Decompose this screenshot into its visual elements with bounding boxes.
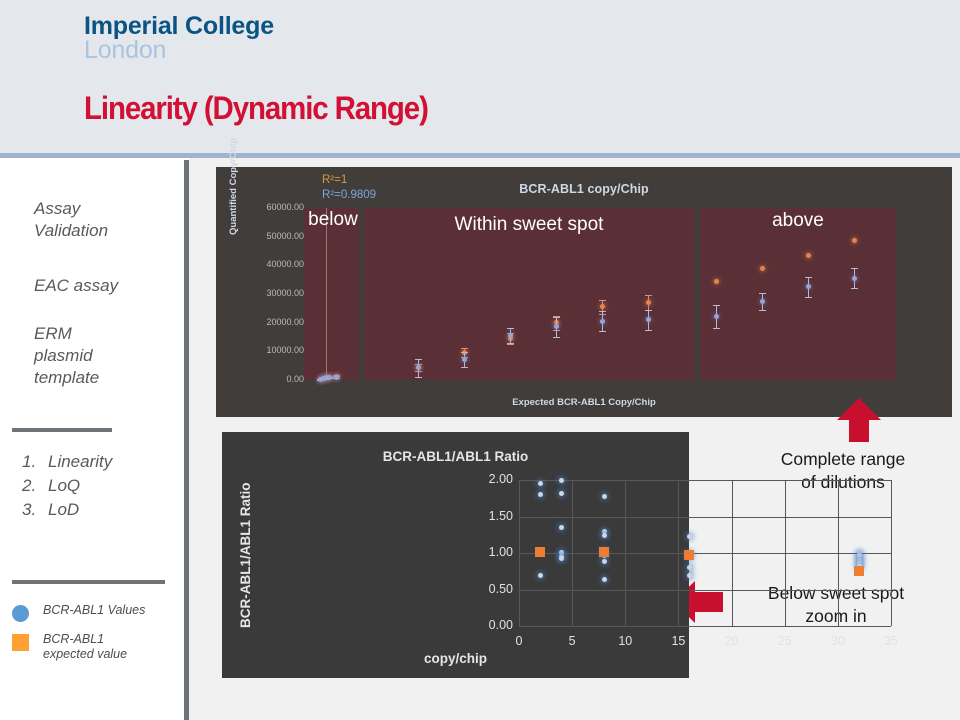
error-bar-cap [415, 377, 422, 378]
list-label-linearity: Linearity [48, 452, 112, 471]
annotation-complete-range: Complete range of dilutions [728, 448, 958, 494]
gridline-vertical [838, 480, 839, 626]
xtick-label-bottom-2: 10 [610, 634, 640, 648]
error-bar-cap [805, 277, 812, 278]
expected-value-marker [854, 566, 864, 576]
xtick-label-bottom-7: 35 [876, 634, 906, 648]
gridline-horizontal [519, 626, 891, 627]
data-point [760, 266, 765, 271]
list-number-1: 1. [22, 450, 48, 474]
data-point [646, 300, 651, 305]
ytick-label-bottom-4: 2.00 [455, 472, 513, 486]
data-point [646, 317, 651, 322]
sidebar-ordered-list: 1.Linearity 2.LoQ 3.LoD [22, 450, 112, 522]
gridline-horizontal [519, 480, 891, 481]
data-point [559, 478, 564, 483]
gridline-horizontal [519, 590, 891, 591]
error-bar-cap [553, 317, 560, 318]
data-point [559, 556, 564, 561]
xtick-label-bottom-6: 30 [823, 634, 853, 648]
error-bar-cap [851, 268, 858, 269]
up-arrow-icon [836, 396, 882, 442]
ytick-label-top-3: 30000.00 [238, 288, 304, 298]
data-point [714, 279, 719, 284]
ytick-label-bottom-2: 1.00 [455, 545, 513, 559]
ytick-label-top-4: 40000.00 [238, 259, 304, 269]
chart-ylabel-bottom: BCR-ABL1/ABL1 Ratio [238, 482, 253, 628]
data-point [538, 481, 543, 486]
sidebar-block-assay-validation: AssayValidation [34, 198, 108, 242]
list-number-3: 3. [22, 498, 48, 522]
data-point [327, 375, 332, 380]
error-bar-cap [805, 297, 812, 298]
chart-bcr-abl1-copy-per-chip[interactable]: R²=1 R²=0.9809 BCR-ABL1 copy/Chip Quanti… [216, 167, 952, 417]
data-point [334, 375, 339, 380]
error-bar-cap [415, 359, 422, 360]
chart-title-top: BCR-ABL1 copy/Chip [216, 182, 952, 196]
data-point [538, 573, 543, 578]
error-bar-cap [599, 311, 606, 312]
xtick-label-bottom-1: 5 [557, 634, 587, 648]
sidebar-item-lod[interactable]: 3.LoD [22, 498, 112, 522]
error-bar-cap [713, 328, 720, 329]
xtick-label-bottom-4: 20 [717, 634, 747, 648]
data-point [760, 299, 765, 304]
error-bar-cap [645, 295, 652, 296]
annotation-complete-range-line1: Complete range [728, 448, 958, 471]
region-box-above [700, 208, 896, 380]
xtick-label-bottom-0: 0 [504, 634, 534, 648]
ytick-label-top-0: 0.00 [238, 374, 304, 384]
data-point [687, 565, 692, 570]
xtick-label-bottom-3: 15 [663, 634, 693, 648]
ytick-label-top-5: 50000.00 [238, 231, 304, 241]
list-label-loq: LoQ [48, 476, 80, 495]
sidebar-block-eac-assay: EAC assay [34, 275, 118, 297]
expected-value-marker [535, 547, 545, 557]
gridline-vertical [572, 480, 573, 626]
error-bar-cap [461, 367, 468, 368]
region-label-below: below [302, 209, 364, 231]
error-bar-cap [759, 293, 766, 294]
gridline-horizontal [519, 553, 891, 554]
data-point [538, 492, 543, 497]
imperial-college-logo: Imperial College London [84, 14, 274, 63]
error-bar-cap [507, 328, 514, 329]
region-label-sweet-spot: Within sweet spot [364, 214, 694, 236]
logo-line-london: London [84, 38, 274, 64]
legend-circle-icon [12, 605, 29, 622]
data-point [687, 573, 692, 578]
data-point [602, 577, 607, 582]
data-point [600, 304, 605, 309]
ytick-label-top-6: 60000.00 [238, 202, 304, 212]
chart-bcr-abl1-abl1-ratio[interactable]: BCR-ABL1/ABL1 Ratio BCR-ABL1/ABL1 Ratio … [222, 432, 689, 678]
data-point [806, 284, 811, 289]
chart-yaxis-top: 0.0010000.0020000.0030000.0040000.005000… [238, 167, 304, 417]
sidebar-block-erm-plasmid-template: ERMplasmidtemplate [34, 323, 99, 388]
gridline-vertical [519, 480, 520, 626]
ytick-label-bottom-1: 0.50 [455, 582, 513, 596]
error-bar-cap [851, 288, 858, 289]
ytick-label-top-1: 10000.00 [238, 345, 304, 355]
error-bar-cap [713, 305, 720, 306]
trendline [326, 208, 327, 380]
chart-title-bottom: BCR-ABL1/ABL1 Ratio [222, 449, 689, 464]
legend-label-expected: BCR-ABL1expected value [43, 632, 183, 663]
error-bar-cap [645, 310, 652, 311]
ytick-label-bottom-3: 1.50 [455, 509, 513, 523]
legend-square-icon [12, 634, 29, 651]
sidebar-item-linearity[interactable]: 1.Linearity [22, 450, 112, 474]
error-bar-cap [461, 352, 468, 353]
annotation-complete-range-line2: of dilutions [728, 471, 958, 494]
data-point [602, 494, 607, 499]
error-bar-cap [645, 330, 652, 331]
data-point [602, 533, 607, 538]
ytick-label-bottom-0: 0.00 [455, 618, 513, 632]
data-point [602, 559, 607, 564]
error-bar-cap [507, 344, 514, 345]
page-title: Linearity (Dynamic Range) [84, 90, 428, 127]
error-bar-cap [507, 343, 514, 344]
sidebar-item-loq[interactable]: 2.LoQ [22, 474, 112, 498]
gridline-vertical [785, 480, 786, 626]
xtick-label-bottom-5: 25 [770, 634, 800, 648]
data-point [852, 276, 857, 281]
gridline-vertical [678, 480, 679, 626]
sidebar: AssayValidation EAC assay ERMplasmidtemp… [0, 158, 184, 720]
data-point [462, 357, 467, 362]
error-bar-cap [759, 310, 766, 311]
expected-value-marker [599, 547, 609, 557]
ytick-label-top-2: 20000.00 [238, 317, 304, 327]
region-label-above: above [700, 210, 896, 232]
error-bar-cap [553, 337, 560, 338]
gridline-vertical [891, 480, 892, 626]
data-point [806, 253, 811, 258]
chart-xlabel-bottom: copy/chip [222, 651, 689, 666]
error-bar-cap [599, 331, 606, 332]
slide-header: Imperial College London Linearity (Dynam… [0, 0, 960, 153]
error-bar-cap [599, 300, 606, 301]
legend-label-values: BCR-ABL1 Values [43, 603, 183, 618]
sidebar-divider-bottom [12, 580, 165, 584]
annotation-below-line1: Below sweet spot [716, 582, 956, 605]
annotation-below-line2: zoom in [716, 605, 956, 628]
data-point [508, 333, 513, 338]
chart-plot-area-top: below Within sweet spot above [304, 208, 918, 380]
list-label-lod: LoD [48, 500, 79, 519]
data-point [600, 319, 605, 324]
list-number-2: 2. [22, 474, 48, 498]
region-box-below [304, 208, 359, 380]
data-point [559, 491, 564, 496]
data-point [559, 525, 564, 530]
gridline-vertical [625, 480, 626, 626]
expected-value-marker [684, 550, 694, 560]
gridline-horizontal [519, 517, 891, 518]
gridline-vertical [732, 480, 733, 626]
sidebar-divider-top [12, 428, 112, 432]
